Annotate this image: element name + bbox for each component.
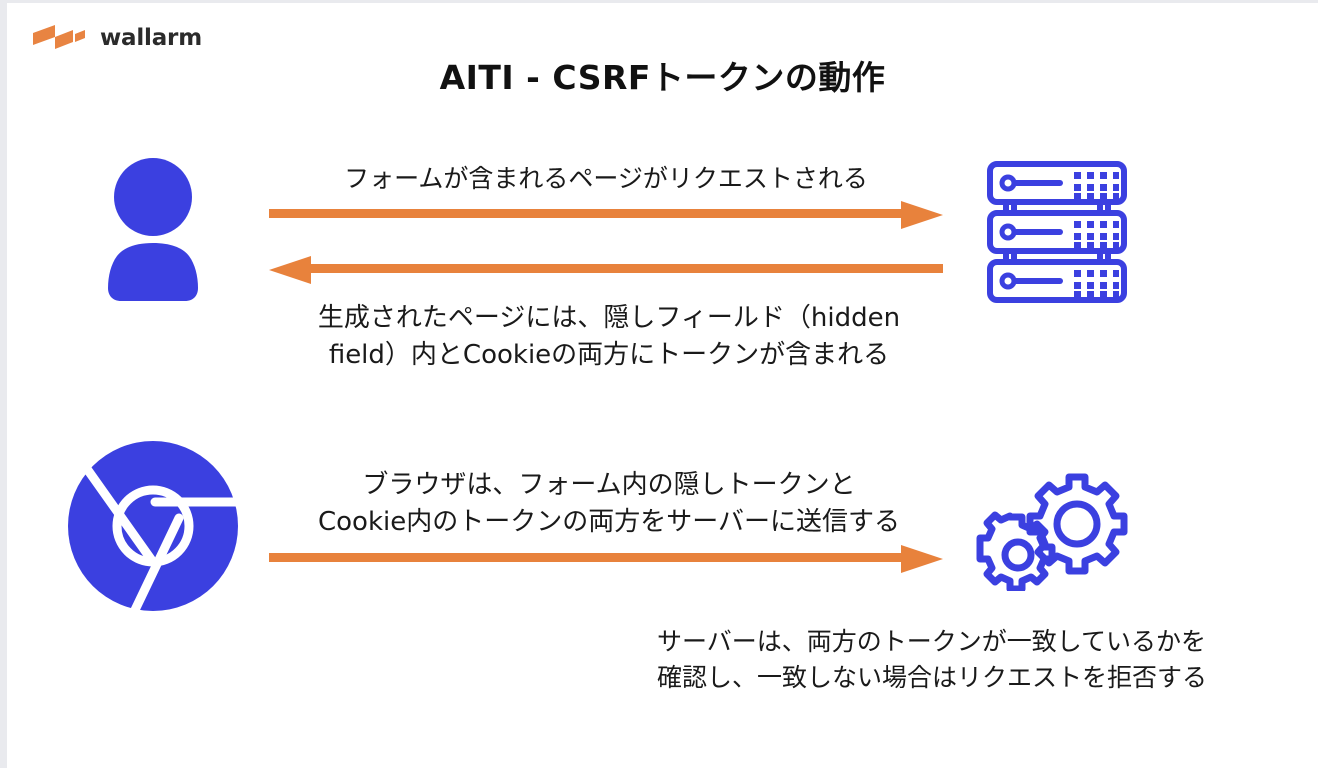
flow-arrow-response-with-tokens (269, 253, 943, 287)
gears-cogs-icon (973, 469, 1139, 591)
slide-canvas: wallarm AITI - CSRFトークンの動作 (7, 3, 1318, 768)
flow-arrow-request-form-page (269, 198, 943, 232)
page-title: AITI - CSRFトークンの動作 (7, 51, 1318, 99)
flow-arrow-submit-both-tokens (269, 542, 943, 576)
server-rack-icon (982, 158, 1132, 306)
flow-caption-server-validates-tokens: サーバーは、両方のトークンが一致しているかを 確認し、一致しない場合はリクエスト… (657, 624, 1297, 695)
wallarm-brand-name: wallarm (100, 27, 202, 50)
wallarm-brand: wallarm (33, 22, 202, 54)
flow-caption-request-form-page: フォームが含まれるページがリクエストされる (269, 161, 943, 197)
flow-caption-submit-both-tokens: ブラウザは、フォーム内の隠しトークンと Cookie内のトークンの両方をサーバー… (279, 467, 939, 541)
wallarm-lightning-logo-icon (33, 25, 89, 51)
flow-caption-response-with-tokens: 生成されたページには、隠しフィールド（hidden field）内とCookie… (279, 300, 939, 374)
user-person-icon (92, 155, 214, 301)
chrome-browser-icon (67, 440, 239, 612)
screenshot-frame: wallarm AITI - CSRFトークンの動作 (0, 0, 1318, 768)
